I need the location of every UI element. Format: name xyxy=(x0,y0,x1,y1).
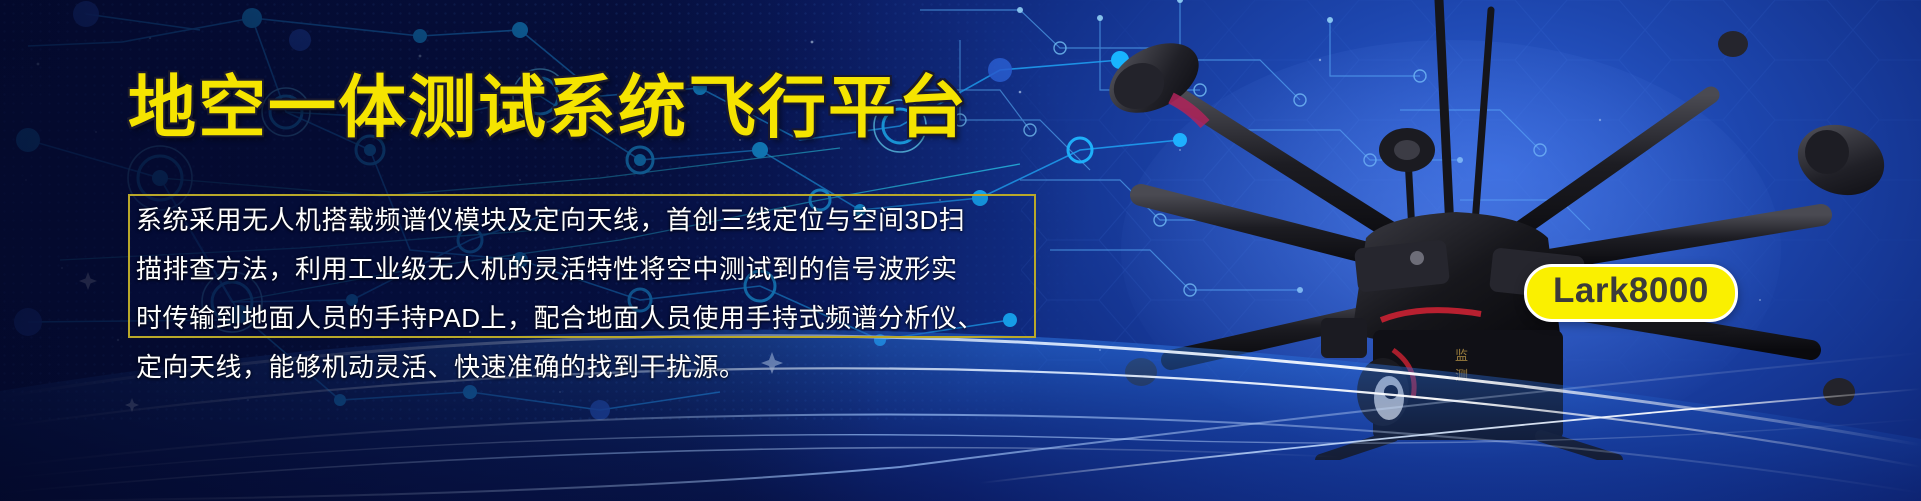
page-title: 地空一体测试系统飞行平台 xyxy=(128,74,968,142)
description-line: 定向天线，能够机动灵活、快速准确的找到干扰源。 xyxy=(136,343,1036,392)
description-line: 系统采用无人机搭载频谱仪模块及定向天线，首创三线定位与空间3D扫 xyxy=(136,196,1036,245)
promo-banner: 监测 xyxy=(0,0,1921,501)
description-line: 时传输到地面人员的手持PAD上，配合地面人员使用手持式频谱分析仪、 xyxy=(136,294,1036,343)
description-line: 描排查方法，利用工业级无人机的灵活特性将空中测试到的信号波形实 xyxy=(136,245,1036,294)
model-badge: Lark8000 xyxy=(1524,264,1738,322)
description-text: 系统采用无人机搭载频谱仪模块及定向天线，首创三线定位与空间3D扫 描排查方法，利… xyxy=(136,196,1036,392)
